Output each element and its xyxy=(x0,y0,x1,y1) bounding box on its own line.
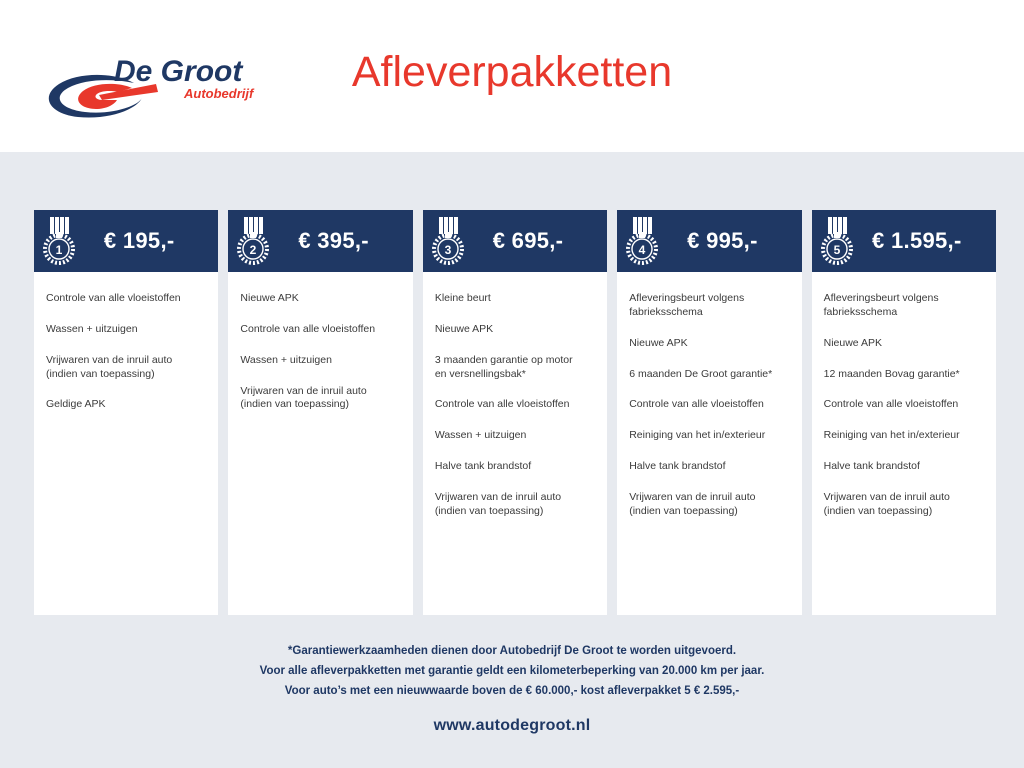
medal-number: 2 xyxy=(250,243,257,257)
disclaimer-line-2: Voor alle afleverpakketten met garantie … xyxy=(0,662,1024,682)
feature-item: Controle van alle vloeistoffen xyxy=(435,398,595,412)
feature-item: Vrijwaren van de inruil auto (indien van… xyxy=(240,385,400,413)
package-price: € 1.595,- xyxy=(854,228,986,254)
content-band: 1 € 195,- Controle van alle vloeistoffen… xyxy=(0,152,1024,768)
medal-icon: 2 xyxy=(236,216,270,266)
medal-icon: 5 xyxy=(820,216,854,266)
medal-icon: 1 xyxy=(42,216,76,266)
package-feature-list: Nieuwe APK Controle van alle vloeistoffe… xyxy=(228,272,412,615)
package-price: € 695,- xyxy=(465,228,597,254)
feature-item: 3 maanden garantie op motor en versnelli… xyxy=(435,354,595,382)
page-title: Afleverpakketten xyxy=(0,50,1024,95)
page-header: De Groot Autobedrijf Afleverpakketten xyxy=(0,0,1024,152)
feature-item: Nieuwe APK xyxy=(435,323,595,337)
feature-item: Nieuwe APK xyxy=(240,292,400,306)
feature-item: Wassen + uitzuigen xyxy=(46,323,206,337)
disclaimer-line-3: Voor auto’s met een nieuwwaarde boven de… xyxy=(0,682,1024,702)
package-card[interactable]: 3 € 695,- Kleine beurt Nieuwe APK 3 maan… xyxy=(423,210,607,615)
feature-item: Afleveringsbeurt volgens fabrieksschema xyxy=(629,292,789,320)
feature-item: Geldige APK xyxy=(46,398,206,412)
feature-item: Vrijwaren van de inruil auto (indien van… xyxy=(435,491,595,519)
package-card-header: 2 € 395,- xyxy=(228,210,412,272)
feature-item: Wassen + uitzuigen xyxy=(435,429,595,443)
feature-item: Halve tank brandstof xyxy=(824,460,984,474)
package-feature-list: Controle van alle vloeistoffen Wassen + … xyxy=(34,272,218,615)
medal-icon: 4 xyxy=(625,216,659,266)
feature-item: Afleveringsbeurt volgens fabrieksschema xyxy=(824,292,984,320)
package-price: € 395,- xyxy=(270,228,402,254)
feature-item: 12 maanden Bovag garantie* xyxy=(824,368,984,382)
feature-item: Nieuwe APK xyxy=(824,337,984,351)
feature-item: Vrijwaren van de inruil auto (indien van… xyxy=(46,354,206,382)
feature-item: Reiniging van het in/exterieur xyxy=(824,429,984,443)
poster-page: De Groot Autobedrijf Afleverpakketten xyxy=(0,0,1024,768)
feature-item: Kleine beurt xyxy=(435,292,595,306)
package-card[interactable]: 5 € 1.595,- Afleveringsbeurt volgens fab… xyxy=(812,210,996,615)
package-card[interactable]: 1 € 195,- Controle van alle vloeistoffen… xyxy=(34,210,218,615)
page-footer: *Garantiewerkzaamheden dienen door Autob… xyxy=(0,642,1024,735)
package-feature-list: Afleveringsbeurt volgens fabrieksschema … xyxy=(812,272,996,615)
feature-item: Controle van alle vloeistoffen xyxy=(46,292,206,306)
feature-item: Controle van alle vloeistoffen xyxy=(824,398,984,412)
feature-item: Nieuwe APK xyxy=(629,337,789,351)
package-card[interactable]: 4 € 995,- Afleveringsbeurt volgens fabri… xyxy=(617,210,801,615)
package-card-header: 3 € 695,- xyxy=(423,210,607,272)
package-card[interactable]: 2 € 395,- Nieuwe APK Controle van alle v… xyxy=(228,210,412,615)
package-card-header: 5 € 1.595,- xyxy=(812,210,996,272)
feature-item: Wassen + uitzuigen xyxy=(240,354,400,368)
medal-number: 5 xyxy=(833,243,840,257)
feature-item: Halve tank brandstof xyxy=(435,460,595,474)
medal-number: 3 xyxy=(444,243,451,257)
disclaimer-line-1: *Garantiewerkzaamheden dienen door Autob… xyxy=(0,642,1024,662)
package-price: € 195,- xyxy=(76,228,208,254)
package-card-header: 1 € 195,- xyxy=(34,210,218,272)
feature-item: Vrijwaren van de inruil auto (indien van… xyxy=(629,491,789,519)
feature-item: Controle van alle vloeistoffen xyxy=(629,398,789,412)
medal-number: 1 xyxy=(56,243,63,257)
website-link[interactable]: www.autodegroot.nl xyxy=(0,717,1024,735)
feature-item: Vrijwaren van de inruil auto (indien van… xyxy=(824,491,984,519)
package-price: € 995,- xyxy=(659,228,791,254)
package-card-header: 4 € 995,- xyxy=(617,210,801,272)
medal-icon: 3 xyxy=(431,216,465,266)
feature-item: 6 maanden De Groot garantie* xyxy=(629,368,789,382)
package-feature-list: Kleine beurt Nieuwe APK 3 maanden garant… xyxy=(423,272,607,615)
feature-item: Controle van alle vloeistoffen xyxy=(240,323,400,337)
feature-item: Reiniging van het in/exterieur xyxy=(629,429,789,443)
package-feature-list: Afleveringsbeurt volgens fabrieksschema … xyxy=(617,272,801,615)
medal-number: 4 xyxy=(639,243,646,257)
feature-item: Halve tank brandstof xyxy=(629,460,789,474)
package-card-list: 1 € 195,- Controle van alle vloeistoffen… xyxy=(34,210,996,615)
